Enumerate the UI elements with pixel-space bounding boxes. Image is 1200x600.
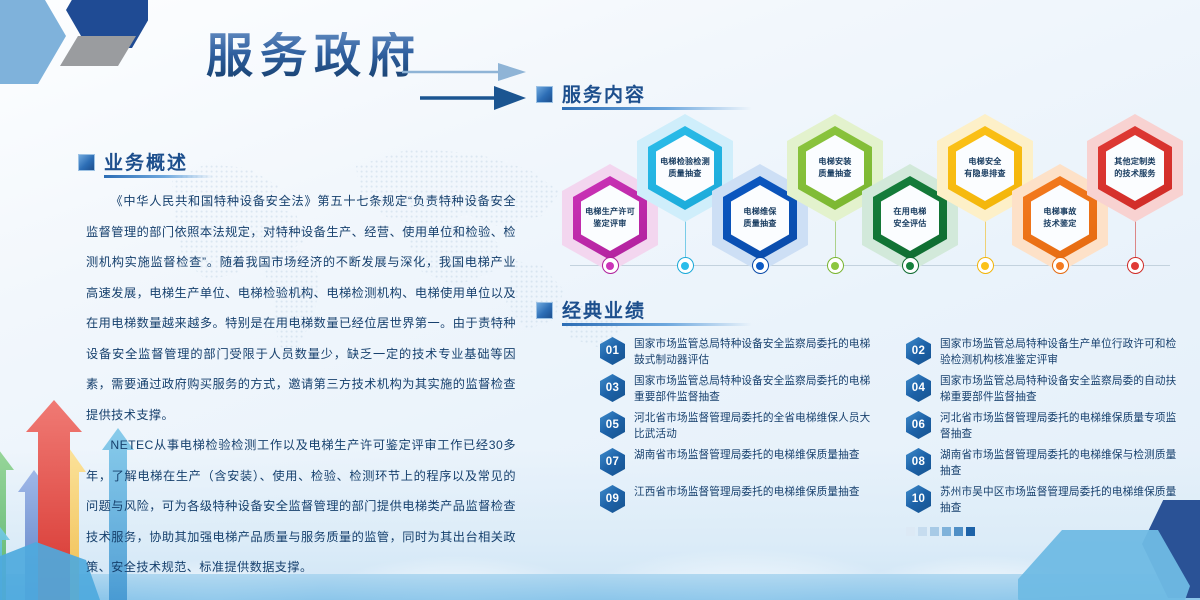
page-dot-2[interactable] bbox=[918, 527, 927, 536]
achievement-text: 江西省市场监督管理局委托的电梯维保质量抽查 bbox=[634, 484, 860, 501]
achievement-item[interactable]: 04国家市场监管总局特种设备安全监察局委的自动扶梯重要部件监督抽查 bbox=[906, 373, 1178, 410]
achievement-number-badge: 01 bbox=[600, 337, 625, 365]
achievement-number-badge: 05 bbox=[600, 411, 625, 439]
timeline-dot-3[interactable] bbox=[752, 257, 769, 274]
heading-underline-overview bbox=[104, 175, 214, 178]
achievement-number-badge: 03 bbox=[600, 374, 625, 402]
square-bullet-icon bbox=[536, 86, 553, 103]
section-heading-service-content: 服务内容 bbox=[536, 80, 646, 109]
page-indicator-dots[interactable] bbox=[906, 527, 975, 536]
overview-body-text: 《中华人民共和国特种设备安全法》第五十七条规定“负责特种设备安全监督管理的部门依… bbox=[86, 186, 516, 583]
page-dot-6[interactable] bbox=[966, 527, 975, 536]
hexagon-label: 电梯安全 有隐患排查 bbox=[964, 156, 1005, 179]
overview-paragraph-1: 《中华人民共和国特种设备安全法》第五十七条规定“负责特种设备安全监督管理的部门依… bbox=[86, 186, 516, 430]
section-title-overview: 业务概述 bbox=[104, 148, 188, 177]
service-hexagon-8[interactable]: 其他定制类 的技术服务 bbox=[1087, 114, 1183, 222]
achievement-text: 国家市场监管总局特种设备安全监察局委托的电梯鼓式制动器评估 bbox=[634, 336, 872, 368]
timeline-dot-core bbox=[981, 262, 989, 270]
title-block: 服务政府 bbox=[206, 32, 506, 122]
achievement-text: 河北省市场监督管理局委托的电梯维保质量专项监督抽查 bbox=[940, 410, 1178, 442]
timeline-dot-5[interactable] bbox=[902, 257, 919, 274]
timeline-dot-6[interactable] bbox=[977, 257, 994, 274]
achievement-text: 湖南省市场监督管理局委托的电梯维保与检测质量抽查 bbox=[940, 447, 1178, 479]
achievement-number-badge: 06 bbox=[906, 411, 931, 439]
achievement-text: 湖南省市场监督管理局委托的电梯维保质量抽查 bbox=[634, 447, 860, 464]
achievement-number-badge: 02 bbox=[906, 337, 931, 365]
page-dot-5[interactable] bbox=[954, 527, 963, 536]
achievement-number-badge: 09 bbox=[600, 485, 625, 513]
achievement-number-badge: 04 bbox=[906, 374, 931, 402]
timeline-dot-core bbox=[831, 262, 839, 270]
achievement-text: 国家市场监管总局特种设备安全监察局委托的电梯重要部件监督抽查 bbox=[634, 373, 872, 405]
page-dot-4[interactable] bbox=[942, 527, 951, 536]
title-arrow-icon bbox=[398, 60, 528, 118]
square-bullet-icon bbox=[78, 154, 95, 171]
achievement-item[interactable]: 09江西省市场监督管理局委托的电梯维保质量抽查 bbox=[600, 484, 872, 521]
achievements-list: 01国家市场监管总局特种设备安全监察局委托的电梯鼓式制动器评估02国家市场监管总… bbox=[600, 336, 1180, 526]
achievement-item[interactable]: 07湖南省市场监督管理局委托的电梯维保质量抽查 bbox=[600, 447, 872, 484]
achievement-number-badge: 08 bbox=[906, 448, 931, 476]
hexagon-label: 在用电梯 安全评估 bbox=[893, 206, 926, 229]
achievement-text: 国家市场监管总局特种设备安全监察局委的自动扶梯重要部件监督抽查 bbox=[940, 373, 1178, 405]
section-title-service-content: 服务内容 bbox=[562, 80, 646, 109]
achievement-item[interactable]: 01国家市场监管总局特种设备安全监察局委托的电梯鼓式制动器评估 bbox=[600, 336, 872, 373]
hexagon-label: 电梯检验检测 质量抽查 bbox=[660, 156, 710, 179]
achievement-number-badge: 07 bbox=[600, 448, 625, 476]
timeline-dot-7[interactable] bbox=[1052, 257, 1069, 274]
achievement-item[interactable]: 08湖南省市场监督管理局委托的电梯维保与检测质量抽查 bbox=[906, 447, 1178, 484]
timeline-dot-core bbox=[1131, 262, 1139, 270]
service-content-hexagon-flow: 电梯生产许可 鉴定评审电梯检验检测 质量抽查电梯维保 质量抽查电梯安装 质量抽查… bbox=[556, 108, 1192, 283]
achievement-text: 河北省市场监督管理局委托的全省电梯维保人员大比武活动 bbox=[634, 410, 872, 442]
timeline-dot-8[interactable] bbox=[1127, 257, 1144, 274]
top-left-hexagon-cluster bbox=[0, 0, 148, 110]
achievement-item[interactable]: 05河北省市场监督管理局委托的全省电梯维保人员大比武活动 bbox=[600, 410, 872, 447]
section-heading-achievements: 经典业绩 bbox=[536, 296, 646, 325]
overview-paragraph-2: NETEC从事电梯检验检测工作以及电梯生产许可鉴定评审工作已经30多年，了解电梯… bbox=[86, 430, 516, 583]
achievement-item[interactable]: 06河北省市场监督管理局委托的电梯维保质量专项监督抽查 bbox=[906, 410, 1178, 447]
achievement-text: 国家市场监管总局特种设备生产单位行政许可和检验检测机构核准鉴定评审 bbox=[940, 336, 1178, 368]
hexagon-label: 电梯生产许可 鉴定评审 bbox=[585, 206, 635, 229]
timeline-dot-2[interactable] bbox=[677, 257, 694, 274]
section-heading-overview: 业务概述 bbox=[78, 148, 188, 177]
hexagon-label: 电梯安装 质量抽查 bbox=[818, 156, 851, 179]
achievement-text: 苏州市吴中区市场监督管理局委托的电梯维保质量抽查 bbox=[940, 484, 1178, 516]
timeline-dot-1[interactable] bbox=[602, 257, 619, 274]
achievement-number-badge: 10 bbox=[906, 485, 931, 513]
timeline-dot-core bbox=[756, 262, 764, 270]
timeline-dot-core bbox=[606, 262, 614, 270]
timeline-dot-core bbox=[1056, 262, 1064, 270]
achievement-item[interactable]: 03国家市场监管总局特种设备安全监察局委托的电梯重要部件监督抽查 bbox=[600, 373, 872, 410]
timeline-dot-core bbox=[906, 262, 914, 270]
timeline-dot-4[interactable] bbox=[827, 257, 844, 274]
square-bullet-icon bbox=[536, 302, 553, 319]
timeline-dot-core bbox=[681, 262, 689, 270]
achievement-item[interactable]: 10苏州市吴中区市场监督管理局委托的电梯维保质量抽查 bbox=[906, 484, 1178, 521]
hexagon-label: 其他定制类 的技术服务 bbox=[1114, 156, 1155, 179]
achievement-item[interactable]: 02国家市场监管总局特种设备生产单位行政许可和检验检测机构核准鉴定评审 bbox=[906, 336, 1178, 373]
section-title-achievements: 经典业绩 bbox=[562, 296, 646, 325]
hexagon-label: 电梯事故 技术鉴定 bbox=[1043, 206, 1076, 229]
page-dot-1[interactable] bbox=[906, 527, 915, 536]
hexagon-label: 电梯维保 质量抽查 bbox=[743, 206, 776, 229]
heading-underline-achievements bbox=[562, 323, 752, 326]
page-dot-3[interactable] bbox=[930, 527, 939, 536]
